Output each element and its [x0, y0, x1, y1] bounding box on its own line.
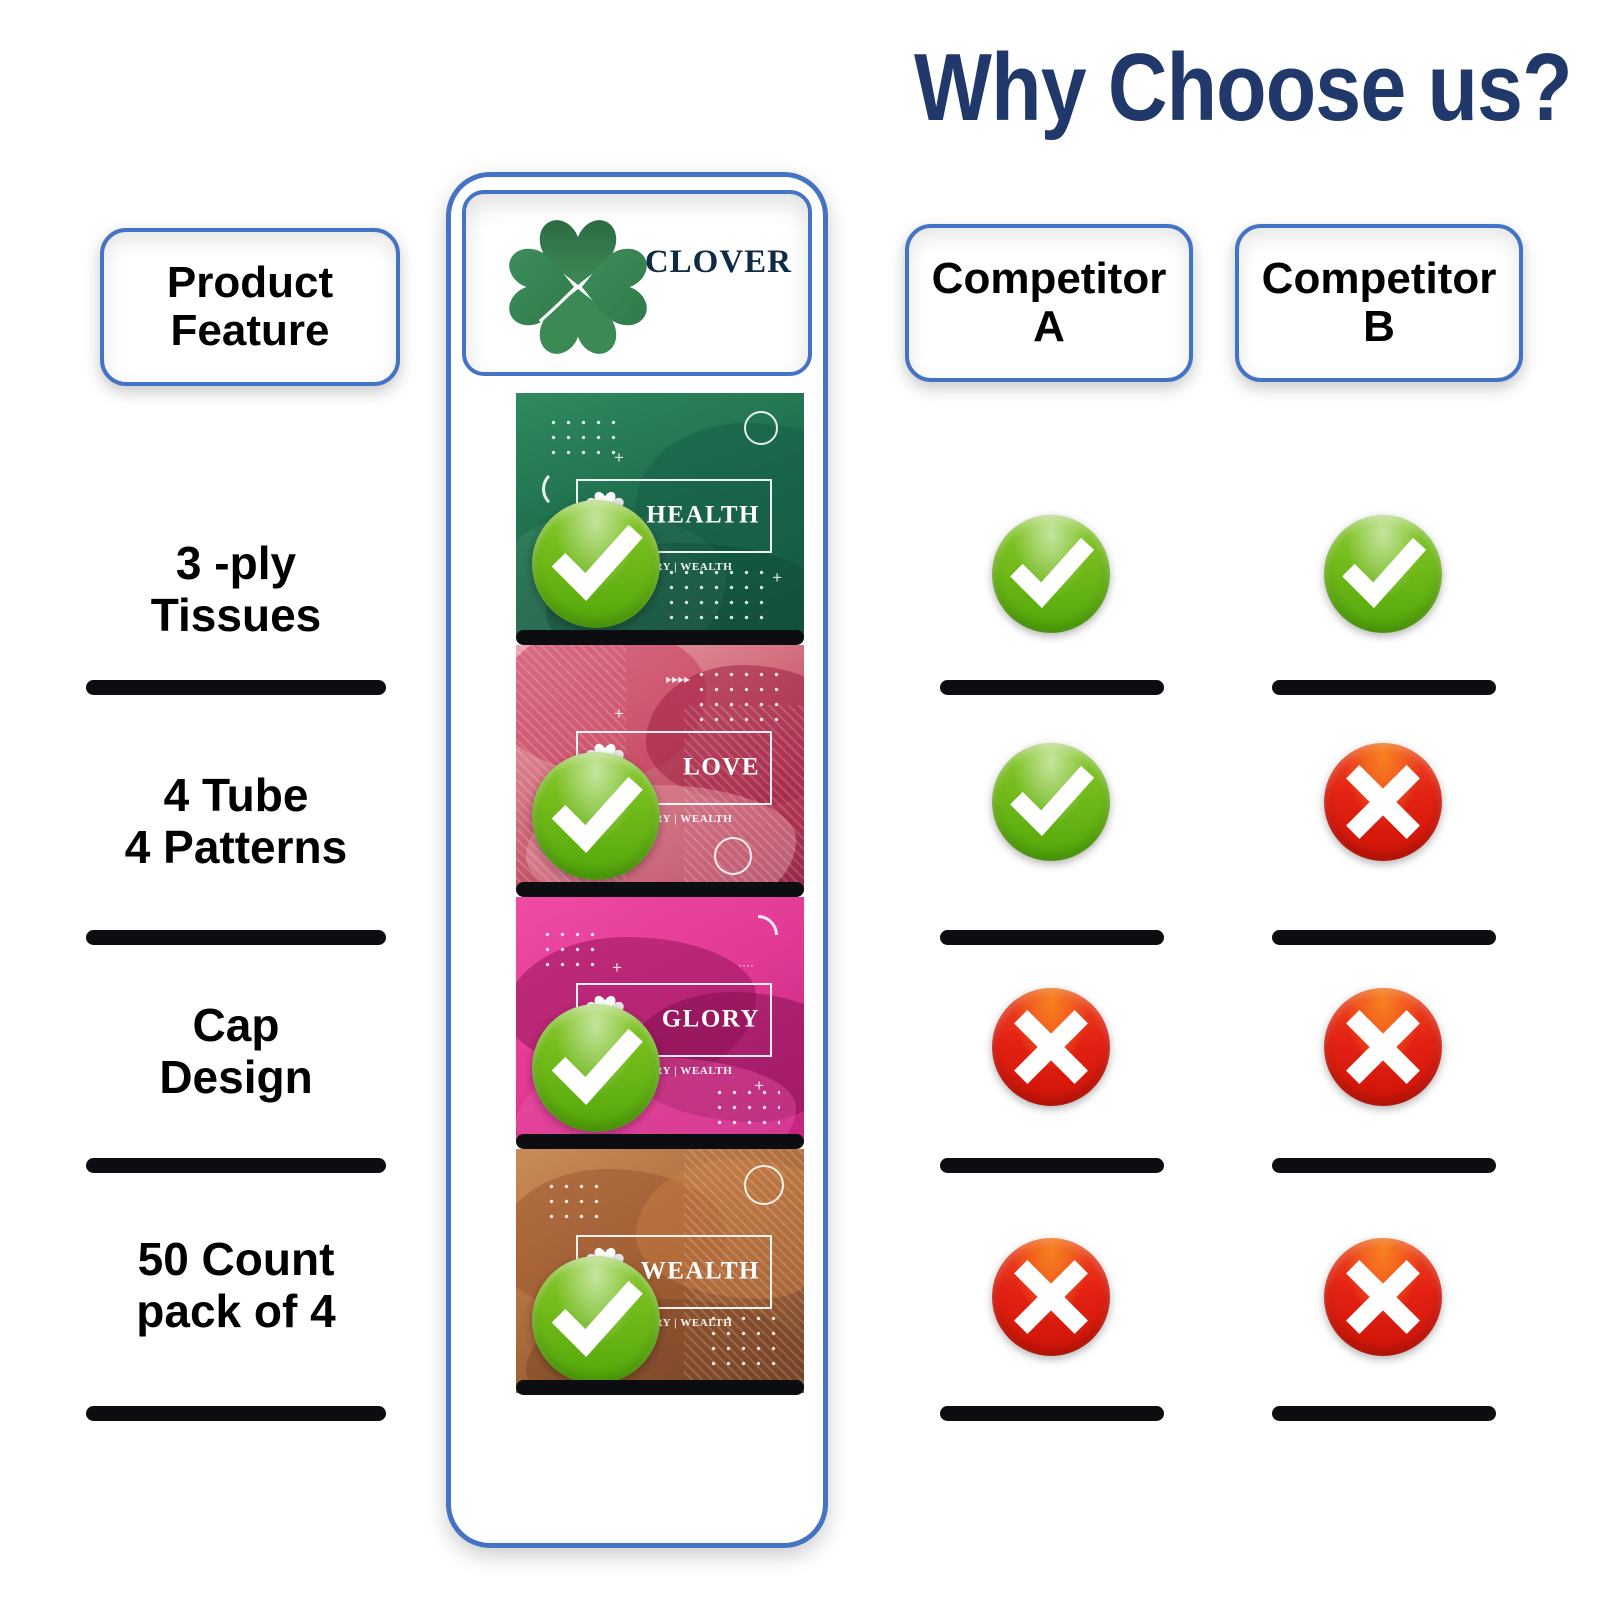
feature-label-3: Cap Design	[86, 1000, 386, 1104]
package-name: LOVE	[683, 753, 760, 781]
divider-left-4	[86, 1406, 386, 1421]
status-check-clover-row-2	[532, 752, 660, 880]
divider-center-4	[516, 1380, 804, 1395]
feature-label-2: 4 Tube 4 Patterns	[86, 770, 386, 874]
status-cross-competitor-b-row-3	[1324, 988, 1442, 1106]
check-icon	[1324, 515, 1442, 633]
status-cross-competitor-a-row-3	[992, 988, 1110, 1106]
divider-competitor-b-2	[1272, 930, 1496, 945]
header-product-feature-label: Product Feature	[167, 259, 333, 354]
package-name: GLORY	[662, 1005, 760, 1033]
status-check-clover-row-1	[532, 500, 660, 628]
divider-center-3	[516, 1134, 804, 1149]
cross-icon	[992, 988, 1110, 1106]
check-icon	[532, 1256, 660, 1384]
check-icon	[532, 752, 660, 880]
header-competitor-a[interactable]: Competitor A	[905, 224, 1193, 382]
status-cross-competitor-b-row-4	[1324, 1238, 1442, 1356]
brand-wordmark: CLOVER	[645, 244, 792, 281]
divider-center-1	[516, 630, 804, 645]
status-cross-competitor-b-row-2	[1324, 743, 1442, 861]
cross-icon	[992, 1238, 1110, 1356]
divider-competitor-b-1	[1272, 680, 1496, 695]
divider-competitor-a-1	[940, 680, 1164, 695]
cross-icon	[1324, 743, 1442, 861]
divider-competitor-b-4	[1272, 1406, 1496, 1421]
divider-left-2	[86, 930, 386, 945]
header-competitor-b[interactable]: Competitor B	[1235, 224, 1523, 382]
check-icon	[532, 1004, 660, 1132]
status-cross-competitor-a-row-4	[992, 1238, 1110, 1356]
check-icon	[992, 515, 1110, 633]
divider-competitor-a-3	[940, 1158, 1164, 1173]
divider-competitor-a-4	[940, 1406, 1164, 1421]
cross-icon	[1324, 988, 1442, 1106]
status-check-competitor-a-row-2	[992, 743, 1110, 861]
header-clover-brand[interactable]: CLOVER	[462, 190, 812, 376]
header-competitor-b-label: Competitor B	[1262, 255, 1497, 350]
status-check-clover-row-3	[532, 1004, 660, 1132]
package-name: HEALTH	[646, 501, 760, 529]
status-check-competitor-b-row-1	[1324, 515, 1442, 633]
feature-label-4: 50 Count pack of 4	[86, 1234, 386, 1338]
four-leaf-clover-icon	[492, 204, 664, 370]
status-check-clover-row-4	[532, 1256, 660, 1384]
check-icon	[992, 743, 1110, 861]
header-product-feature[interactable]: Product Feature	[100, 228, 400, 386]
cross-icon	[1324, 1238, 1442, 1356]
divider-left-3	[86, 1158, 386, 1173]
feature-label-1: 3 -ply Tissues	[86, 538, 386, 642]
page-title: Why Choose us?	[914, 38, 1572, 139]
header-competitor-a-label: Competitor A	[932, 255, 1167, 350]
check-icon	[532, 500, 660, 628]
divider-competitor-b-3	[1272, 1158, 1496, 1173]
divider-center-2	[516, 882, 804, 897]
divider-left-1	[86, 680, 386, 695]
status-check-competitor-a-row-1	[992, 515, 1110, 633]
divider-competitor-a-2	[940, 930, 1164, 945]
